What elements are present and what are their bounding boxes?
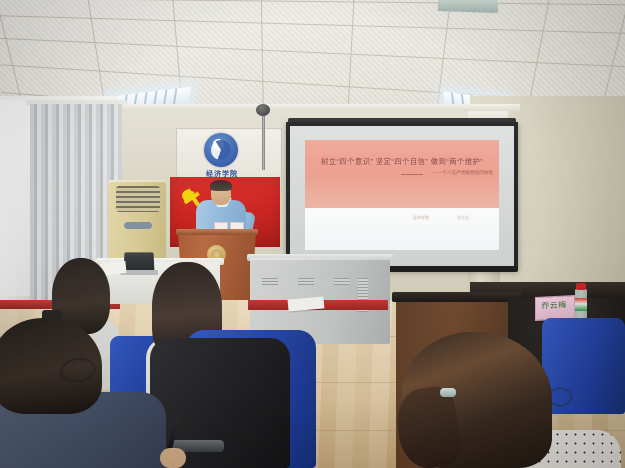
bottle-cap[interactable] [576,283,586,290]
notebook-paper[interactable] [103,261,126,275]
dark-desk-top [392,292,522,302]
presentation-slide: 树立“四个意识” 坚定“四个自信” 做到“两个维护” ——个人在严党规党纪的体现… [305,140,499,250]
aircon-grille-icon [116,186,160,212]
cabinet-vent-icon [298,278,314,285]
microphone-stand [262,110,265,170]
aircon-display-panel[interactable] [124,222,152,229]
eyeglasses-icon [548,388,572,406]
slide-footer-left: 经济学院 [413,215,429,221]
wall-cornice [100,104,520,111]
slide-footer-right: 党支部 [457,215,469,221]
school-crest-swirl-icon [211,140,231,160]
slide-subtitle: ——个人在严党规党纪的体现 [375,170,493,176]
cabinet-vent-icon [334,278,350,285]
student-front-left-hand [160,448,186,468]
microphone-icon [256,104,270,116]
slide-title: 树立“四个意识” 坚定“四个自信” 做到“两个维护” [311,156,493,167]
speaker-hair [210,180,232,191]
lectern-top [176,229,258,235]
photo-scene: 经济学院 School of Economics 树立“四个意识” 坚定“四个自… [0,0,625,468]
cabinet-vent-icon [262,278,278,285]
bottle-label [575,298,587,311]
hair-tie [440,388,456,397]
ceiling-vent-icon [438,0,499,13]
name-card-text: 乔云梅 [537,299,571,312]
